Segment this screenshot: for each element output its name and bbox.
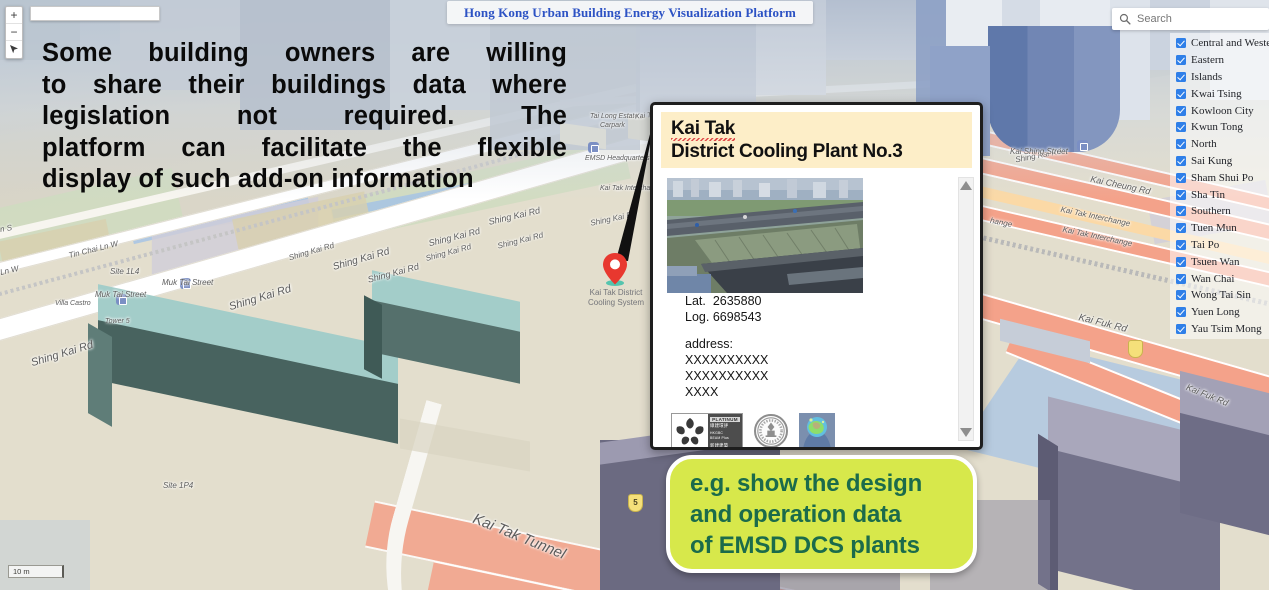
example-callout: e.g. show the design and operation data … [666,455,977,573]
map-road-label: Kai Shing Street [1010,147,1068,156]
page-title: Hong Kong Urban Building Energy Visualiz… [464,5,796,21]
map-road-label: Villa Castro [55,300,91,307]
map-pin-marker[interactable]: Kai Tak District Cooling System [602,252,628,286]
district-label: Tsuen Wan [1191,256,1240,268]
route-shield-icon [1128,340,1143,358]
district-checkbox-row[interactable]: Sha Tin [1176,186,1269,203]
district-label: Wong Tai Sin [1191,289,1251,301]
address-line: XXXXXXXXXX [685,368,773,384]
certification-seal-badge [754,414,788,448]
coordinates-and-address: Lat. 2635880 Log. 6698543 address: XXXXX… [685,293,773,400]
district-checkbox-row[interactable]: Kwun Tong [1176,119,1269,136]
district-label: Sham Shui Po [1191,172,1253,184]
route-shield-icon: 5 [628,494,643,512]
district-checkbox-row[interactable]: Yuen Long [1176,304,1269,321]
certification-badges: PLATINUM 綠建環評 HKGBCBEAM Plus 新建建築 [671,413,972,449]
annotation-line: to share their buildings data where [42,70,567,102]
map-road-label: Muk Tai Street [162,278,213,287]
map-road-label: Site 1L4 [110,267,139,276]
callout-line: of EMSD DCS plants [690,530,973,561]
building-3d-tower[interactable] [988,26,1120,152]
plant-photo [667,178,863,293]
district-checkbox-row[interactable]: Kwai Tsing [1176,85,1269,102]
callout-line: e.g. show the design [690,468,973,499]
map-road-label: Muk Tai Street [95,290,146,299]
district-label: Kwai Tsing [1191,88,1242,100]
district-checkbox-row[interactable]: Islands [1176,69,1269,86]
map-scale-bar: 10 m [8,565,64,578]
map-text-input[interactable] [30,6,160,21]
checkbox-icon[interactable] [1176,156,1186,166]
checkbox-icon[interactable] [1176,240,1186,250]
longitude-value: 6698543 [713,310,762,324]
checkbox-icon[interactable] [1176,89,1186,99]
annotation-line: platform can facilitate the flexible [42,133,567,165]
popup-body: Lat. 2635880 Log. 6698543 address: XXXXX… [653,168,980,450]
pinwheel-icon [672,414,708,448]
beam-plus-platinum-badge: PLATINUM 綠建環評 HKGBCBEAM Plus 新建建築 [671,413,743,449]
annotation-line: Some building owners are willing [42,38,567,70]
callout-line: and operation data [690,499,973,530]
scroll-up-arrow-icon[interactable] [960,181,972,190]
checkbox-icon[interactable] [1176,257,1186,267]
popup-title-line1: Kai Tak [671,117,962,140]
popup-title-line2: District Cooling Plant No.3 [671,140,962,163]
district-label: Kwun Tong [1191,121,1243,133]
checkbox-icon[interactable] [1176,274,1186,284]
district-checkbox-row[interactable]: Tuen Mun [1176,220,1269,237]
district-label: Southern [1191,205,1231,217]
checkbox-icon[interactable] [1176,106,1186,116]
pin-label-line: Cooling System [579,298,653,308]
search-icon [1119,13,1131,25]
app-root: 5 Shing Kai RdShing Kai RdShing Kai RdSh… [0,0,1269,590]
district-label: Tuen Mun [1191,222,1237,234]
scroll-down-arrow-icon[interactable] [960,428,972,437]
district-checkbox-row[interactable]: Yau Tsim Mong [1176,321,1269,338]
search-box[interactable]: Search [1112,8,1269,30]
map-road-label: Tai Long Estate [590,113,638,120]
address-line: XXXX [685,384,773,400]
platform-title-banner: Hong Kong Urban Building Energy Visualiz… [447,1,813,24]
annotation-line: display of such add-on information [42,164,567,196]
longitude-row: Log. 6698543 [685,309,773,325]
district-label: North [1191,138,1217,150]
map-road-label: Site 1P4 [163,481,193,490]
map-zoom-controls[interactable]: + − [5,6,23,59]
district-label: Wan Chai [1191,273,1234,285]
longitude-label: Log. [685,310,709,324]
district-checkbox-row[interactable]: Wong Tai Sin [1176,287,1269,304]
district-checkbox-row[interactable]: Kowloon City [1176,102,1269,119]
checkbox-icon[interactable] [1176,206,1186,216]
district-checkbox-row[interactable]: Sham Shui Po [1176,169,1269,186]
checkbox-icon[interactable] [1176,55,1186,65]
zoom-out-button[interactable]: − [6,24,22,41]
map-road-label: EMSD Headquarters [585,155,650,162]
district-label: Sha Tin [1191,189,1225,201]
zoom-in-button[interactable]: + [6,7,22,24]
district-label: Sai Kung [1191,155,1232,167]
district-label: Central and Western [1191,37,1269,49]
green-globe-badge [799,413,835,449]
poi-marker-icon[interactable] [1077,140,1088,151]
latitude-row: Lat. 2635880 [685,293,773,309]
district-checkbox-row[interactable]: Sai Kung [1176,153,1269,170]
building-3d-teal[interactable] [364,295,382,379]
navigate-cursor-icon[interactable] [6,41,22,58]
district-checkbox-row[interactable]: Southern [1176,203,1269,220]
checkbox-icon[interactable] [1176,324,1186,334]
district-checkbox-row[interactable]: Eastern [1176,52,1269,69]
district-label: Yau Tsim Mong [1191,323,1262,335]
map-road-label: Carpark [600,122,625,129]
latitude-value: 2635880 [713,294,762,308]
map-water [0,520,90,590]
pin-icon[interactable] [602,252,628,286]
building-3d[interactable] [826,0,916,60]
checkbox-icon[interactable] [1176,190,1186,200]
pin-label: Kai Tak District Cooling System [579,288,653,308]
address-line: XXXXXXXXXX [685,352,773,368]
map-road-label: Tower 5 [105,318,130,325]
latitude-label: Lat. [685,294,706,308]
district-label: Eastern [1191,54,1224,66]
building-info-popup[interactable]: Kai Tak District Cooling Plant No.3 [650,102,983,450]
district-label: Yuen Long [1191,306,1240,318]
checkbox-icon[interactable] [1176,307,1186,317]
district-label: Islands [1191,71,1222,83]
search-input-placeholder[interactable]: Search [1137,13,1172,25]
popup-title-spellcheck-text: Kai Tak [671,117,735,140]
checkbox-icon[interactable] [1176,38,1186,48]
district-checkbox-row[interactable]: North [1176,136,1269,153]
address-label: address: [685,336,773,352]
checkbox-icon[interactable] [1176,223,1186,233]
district-filter-panel[interactable]: Central and WesternEasternIslandsKwai Ts… [1170,33,1269,339]
building-3d-teal[interactable] [88,323,112,427]
platinum-label: PLATINUM 綠建環評 HKGBCBEAM Plus 新建建築 [708,414,742,448]
popup-scrollbar[interactable] [958,177,974,441]
district-checkbox-row[interactable]: Central and Western [1176,35,1269,52]
checkbox-icon[interactable] [1176,72,1186,82]
district-label: Tai Po [1191,239,1219,251]
annotation-text: Some building owners are willing to shar… [42,38,567,196]
poi-marker-icon[interactable] [588,142,599,153]
checkbox-icon[interactable] [1176,290,1186,300]
checkbox-icon[interactable] [1176,139,1186,149]
annotation-line: legislation not required. The [42,101,567,133]
district-checkbox-row[interactable]: Wan Chai [1176,270,1269,287]
pin-label-line: Kai Tak District [579,288,653,298]
district-label: Kowloon City [1191,105,1254,117]
checkbox-icon[interactable] [1176,122,1186,132]
district-checkbox-row[interactable]: Tsuen Wan [1176,253,1269,270]
checkbox-icon[interactable] [1176,173,1186,183]
popup-header: Kai Tak District Cooling Plant No.3 [661,112,972,168]
district-checkbox-row[interactable]: Tai Po [1176,237,1269,254]
